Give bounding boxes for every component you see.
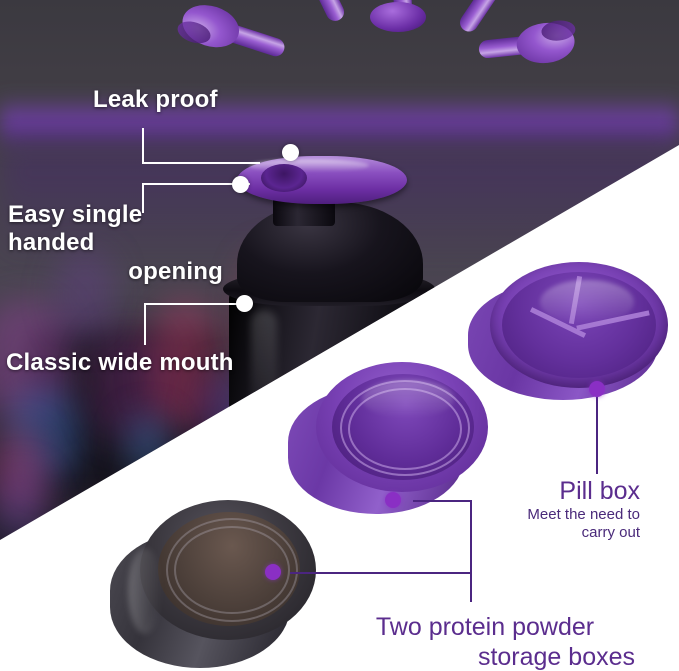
- bokeh-light: [0, 470, 45, 540]
- bottle-highlight: [251, 310, 277, 440]
- callout-pill-box: Pill box Meet the need to carry out: [455, 476, 640, 542]
- callout-storage-boxes-line1: Two protein powder: [335, 612, 635, 642]
- agitator-hub: [370, 2, 426, 32]
- callout-easy-opening-line1: Easy single handed: [8, 201, 142, 256]
- callout-easy-opening-label: Easy single handed opening: [8, 201, 223, 286]
- leader-line-black-box: [290, 572, 471, 574]
- purple-box-gloss: [362, 380, 454, 418]
- cap-drink-spout: [261, 164, 307, 192]
- callout-storage-boxes: Two protein powder storage boxes: [335, 612, 635, 671]
- callout-pill-box-subtitle-line1: Meet the need to: [455, 506, 640, 524]
- hotspot-dot-easy-opening[interactable]: [232, 176, 249, 193]
- black-box-gloss: [128, 548, 162, 634]
- callout-storage-boxes-line2: storage boxes: [335, 642, 635, 671]
- callout-pill-box-subtitle-line2: carry out: [455, 524, 640, 542]
- callout-leak-proof-label: Leak proof: [93, 86, 218, 114]
- black-storage-box-product: [110, 500, 320, 670]
- callout-pill-box-title: Pill box: [455, 476, 640, 506]
- infographic-canvas: Leak proof Easy single handed opening Cl…: [0, 0, 679, 671]
- hotspot-dot-black-box[interactable]: [265, 564, 281, 580]
- leader-line-pill-box: [596, 392, 598, 474]
- callout-easy-opening-line2: opening: [8, 258, 223, 286]
- hotspot-dot-leak-proof[interactable]: [282, 144, 299, 161]
- hotspot-dot-pill-box[interactable]: [589, 381, 605, 397]
- bokeh-light: [125, 415, 170, 475]
- pill-box-product: [468, 262, 679, 402]
- hotspot-dot-purple-box[interactable]: [385, 492, 401, 508]
- hotspot-dot-classic-wide-mouth[interactable]: [236, 295, 253, 312]
- pill-box-gloss: [540, 280, 634, 324]
- callout-classic-wide-mouth-label: Classic wide mouth: [6, 349, 234, 377]
